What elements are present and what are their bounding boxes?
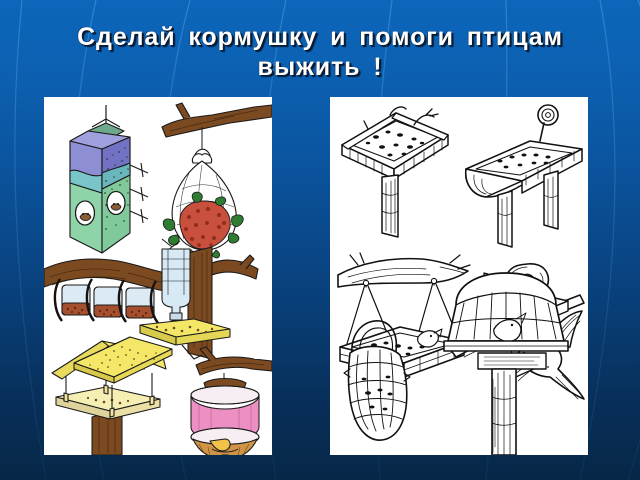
slide-canvas: Сделай кормушку и помоги птицам выжить ! <box>0 0 640 480</box>
bw-feeder-illustrations <box>330 97 588 455</box>
slide-title: Сделай кормушку и помоги птицам выжить ! <box>0 22 640 82</box>
right-image-panel <box>330 97 588 455</box>
left-image-panel <box>44 97 272 455</box>
colour-feeder-illustrations <box>44 97 272 455</box>
